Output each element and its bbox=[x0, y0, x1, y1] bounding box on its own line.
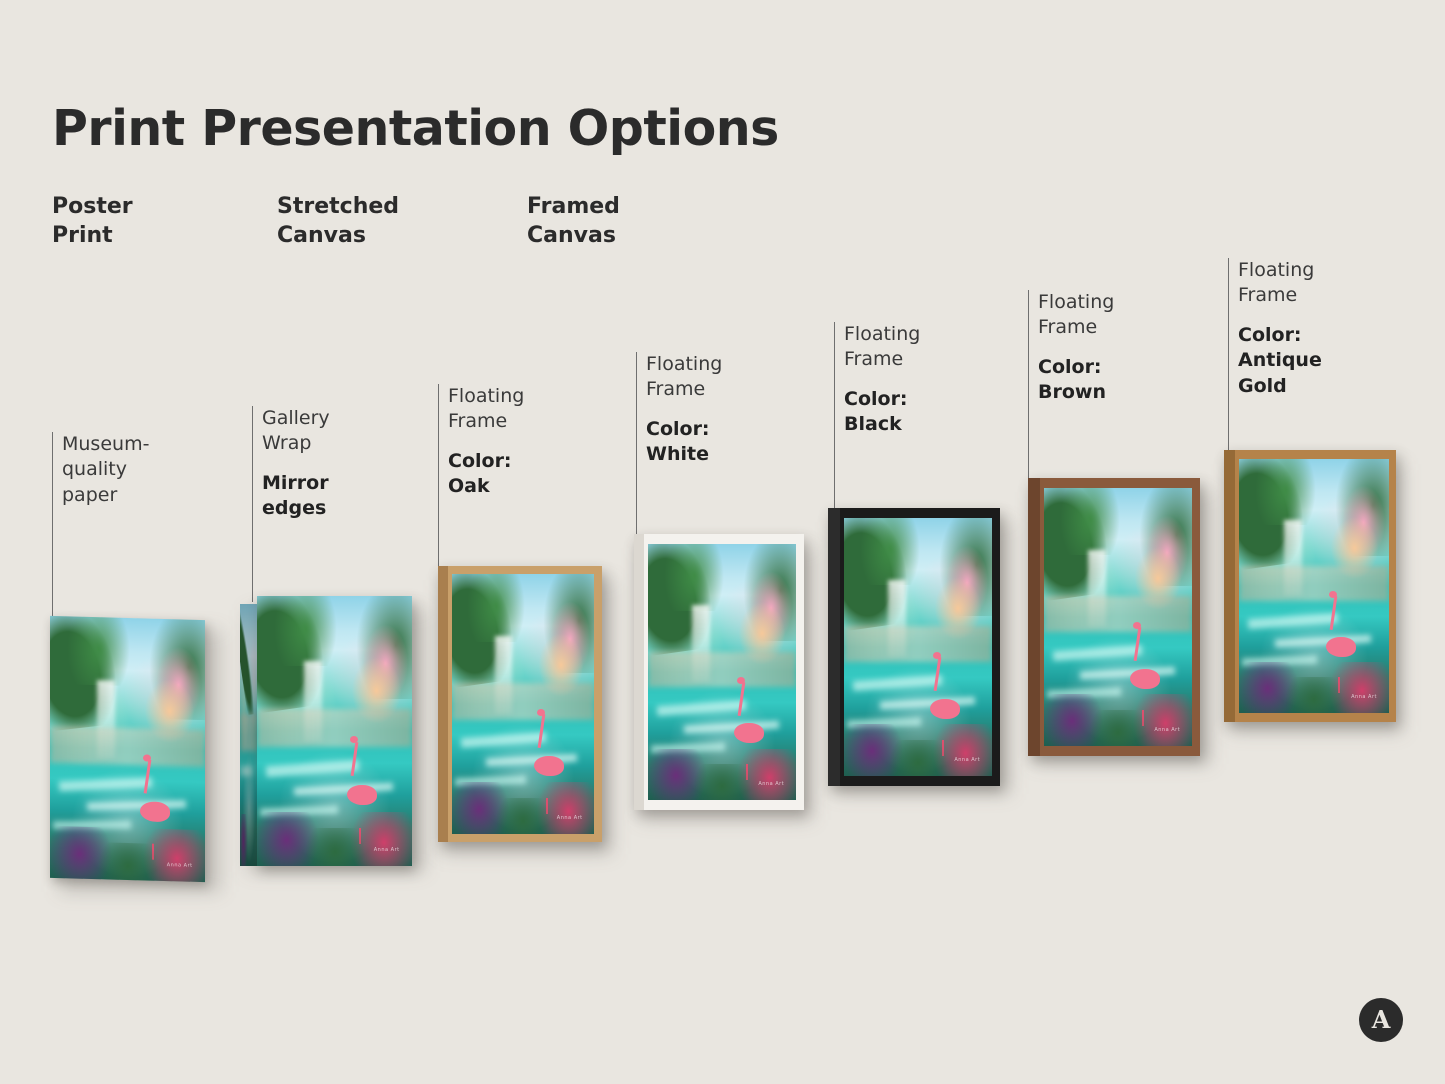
artwork-framed-black: Anna Art bbox=[844, 518, 992, 776]
callout-framed-black: Floating Frame Color: Black bbox=[844, 322, 994, 438]
artwork-stretched-canvas: Anna Art bbox=[257, 596, 412, 866]
leader-line-framed-white bbox=[636, 352, 637, 542]
callout-framed-black-text: Floating Frame bbox=[844, 322, 994, 373]
leader-line-framed-oak bbox=[438, 384, 439, 582]
product-framed-canvas-brown[interactable]: Anna Art bbox=[1022, 478, 1212, 768]
frame-white-left-edge bbox=[634, 534, 644, 810]
artwork-signature: Anna Art bbox=[954, 757, 980, 763]
callout-framed-white-text: Floating Frame bbox=[646, 352, 796, 403]
artwork-signature: Anna Art bbox=[557, 815, 583, 821]
product-framed-canvas-oak[interactable]: Anna Art bbox=[432, 566, 612, 856]
artwork-framed-oak: Anna Art bbox=[452, 574, 594, 834]
callout-framed-antique-gold-bold: Color: Antique Gold bbox=[1238, 323, 1398, 399]
leader-line-poster-print bbox=[52, 432, 53, 620]
artwork-signature: Anna Art bbox=[758, 781, 784, 787]
product-framed-canvas-antique-gold[interactable]: Anna Art bbox=[1220, 450, 1406, 740]
callout-framed-oak-text: Floating Frame bbox=[448, 384, 598, 435]
artwork-signature: Anna Art bbox=[1154, 727, 1180, 733]
category-heading-poster-print: Poster Print bbox=[52, 192, 133, 250]
callout-framed-brown: Floating Frame Color: Brown bbox=[1038, 290, 1188, 406]
leader-line-framed-brown bbox=[1028, 290, 1029, 482]
product-framed-canvas-white[interactable]: Anna Art bbox=[628, 534, 814, 824]
callout-framed-antique-gold-text: Floating Frame bbox=[1238, 258, 1398, 309]
page-title: Print Presentation Options bbox=[52, 100, 779, 157]
artwork-framed-brown: Anna Art bbox=[1044, 488, 1192, 746]
callout-stretched-canvas-bold: Mirror edges bbox=[262, 471, 412, 522]
callout-framed-brown-bold: Color: Brown bbox=[1038, 355, 1188, 406]
frame-brown-left-edge bbox=[1028, 478, 1040, 756]
callout-stretched-canvas-text: Gallery Wrap bbox=[262, 406, 412, 457]
canvas-wrap-edge bbox=[240, 604, 258, 866]
leader-line-framed-antique-gold bbox=[1228, 258, 1229, 454]
callout-poster-print: Museum- quality paper bbox=[62, 432, 202, 508]
category-heading-framed-canvas: Framed Canvas bbox=[527, 192, 620, 250]
product-stretched-canvas[interactable]: Anna Art bbox=[240, 596, 420, 874]
product-framed-canvas-black[interactable]: Anna Art bbox=[822, 508, 1012, 798]
artwork-signature: Anna Art bbox=[1351, 694, 1377, 700]
artwork-poster-print: Anna Art bbox=[50, 616, 205, 882]
artwork-framed-white: Anna Art bbox=[648, 544, 796, 800]
frame-antique-gold-left-edge bbox=[1224, 450, 1235, 722]
artwork-signature: Anna Art bbox=[374, 847, 400, 853]
product-poster-print[interactable]: Anna Art bbox=[50, 618, 210, 886]
brand-logo: A bbox=[1359, 998, 1403, 1042]
leader-line-stretched-canvas bbox=[252, 406, 253, 602]
leader-line-framed-black bbox=[834, 322, 835, 514]
callout-framed-brown-text: Floating Frame bbox=[1038, 290, 1188, 341]
callout-framed-oak: Floating Frame Color: Oak bbox=[448, 384, 598, 500]
callout-framed-oak-bold: Color: Oak bbox=[448, 449, 598, 500]
callout-framed-white-bold: Color: White bbox=[646, 417, 796, 468]
frame-oak-left-edge bbox=[438, 566, 448, 842]
artwork-framed-antique-gold: Anna Art bbox=[1239, 459, 1389, 713]
callout-framed-antique-gold: Floating Frame Color: Antique Gold bbox=[1238, 258, 1398, 399]
callout-stretched-canvas: Gallery Wrap Mirror edges bbox=[262, 406, 412, 522]
callout-framed-white: Floating Frame Color: White bbox=[646, 352, 796, 468]
frame-black-left-edge bbox=[828, 508, 840, 786]
callout-poster-print-text: Museum- quality paper bbox=[62, 432, 202, 508]
presentation-canvas: Print Presentation Options Poster Print … bbox=[0, 0, 1445, 1084]
callout-framed-black-bold: Color: Black bbox=[844, 387, 994, 438]
category-heading-stretched-canvas: Stretched Canvas bbox=[277, 192, 399, 250]
artwork-signature: Anna Art bbox=[167, 862, 193, 869]
